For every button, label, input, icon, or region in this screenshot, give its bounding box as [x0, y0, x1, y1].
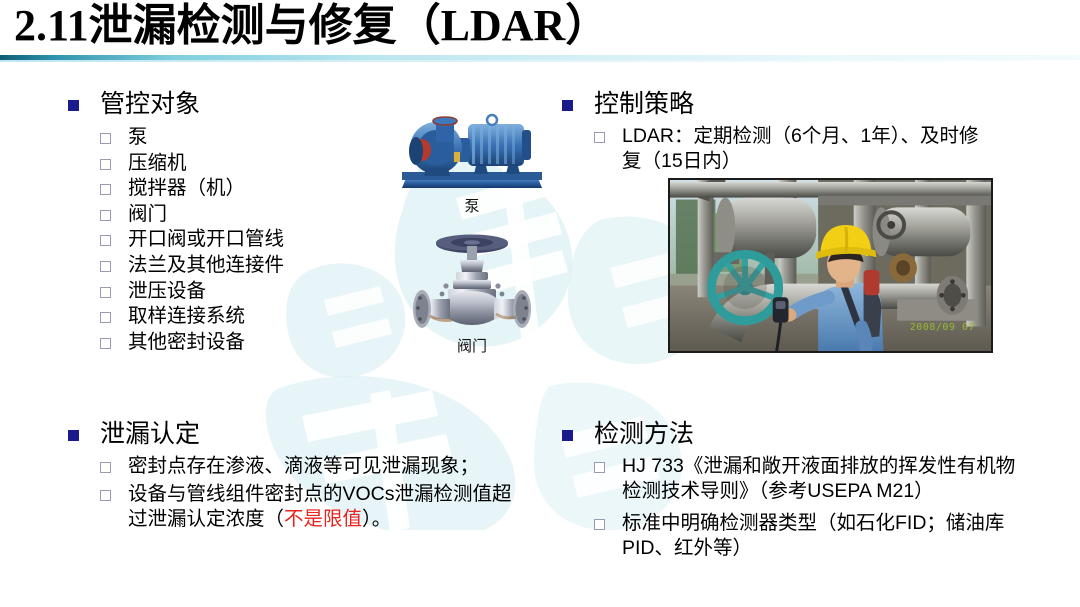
- list-item-label: 压缩机: [128, 151, 187, 177]
- section-leak-definition: 泄漏认定 密封点存在渗液、滴液等可见泄漏现象； 设备与管线组件密封点的VOCs泄…: [68, 418, 538, 535]
- section-heading-row: 泄漏认定: [68, 418, 538, 450]
- list-item-label: 泄压设备: [128, 279, 206, 305]
- title-divider-secondary: [0, 60, 1080, 62]
- photo-worker-inspection: 2008/09 07: [668, 178, 993, 353]
- section-heading: 检测方法: [594, 418, 694, 450]
- hollow-square-bullet-icon: [594, 132, 605, 143]
- list-item: 取样连接系统: [100, 304, 428, 330]
- hollow-square-bullet-icon: [100, 133, 111, 144]
- list-item: LDAR：定期检测（6个月、1年）、及时修复（15日内）: [594, 124, 1032, 174]
- list-item-label: 开口阀或开口管线: [128, 227, 284, 253]
- hollow-square-bullet-icon: [594, 519, 605, 530]
- list-item-label-rich: 设备与管线组件密封点的VOCs泄漏检测值超过泄漏认定浓度（不是限值）。: [128, 482, 528, 532]
- hollow-square-bullet-icon: [100, 490, 111, 501]
- section-heading-row: 检测方法: [562, 418, 1042, 450]
- list-item: 密封点存在渗液、滴液等可见泄漏现象；: [100, 454, 538, 479]
- section-heading: 管控对象: [100, 88, 200, 120]
- list-item: 阀门: [100, 202, 428, 228]
- list-item-label: LDAR：定期检测（6个月、1年）、及时修复（15日内）: [622, 124, 982, 174]
- section-control-strategy: 控制策略 LDAR：定期检测（6个月、1年）、及时修复（15日内）: [562, 88, 1032, 175]
- square-bullet-icon: [562, 100, 573, 111]
- slide-root: 2.11泄漏检测与修复（LDAR） 管控对象 泵 压缩机 搅拌器（机）: [0, 0, 1080, 607]
- list-item-label: 其他密封设备: [128, 330, 245, 356]
- list-item-label: 密封点存在渗液、滴液等可见泄漏现象；: [128, 454, 528, 479]
- list-item: 压缩机: [100, 151, 428, 177]
- hollow-square-bullet-icon: [100, 312, 111, 323]
- hollow-square-bullet-icon: [100, 235, 111, 246]
- bullet-list: 泵 压缩机 搅拌器（机） 阀门 开口阀或开口管线 法兰及其他连接件: [100, 125, 428, 355]
- list-item: 泵: [100, 125, 428, 151]
- hollow-square-bullet-icon: [100, 462, 111, 473]
- photo-timestamp: 2008/09 07: [910, 322, 975, 333]
- bullet-list: 密封点存在渗液、滴液等可见泄漏现象； 设备与管线组件密封点的VOCs泄漏检测值超…: [100, 454, 538, 532]
- slide-title-bar: 2.11泄漏检测与修复（LDAR）: [0, 0, 1080, 58]
- hollow-square-bullet-icon: [594, 462, 605, 473]
- hollow-square-bullet-icon: [100, 338, 111, 349]
- hollow-square-bullet-icon: [100, 287, 111, 298]
- list-item-label: 标准中明确检测器类型（如石化FID；储油库PID、红外等）: [622, 511, 1017, 561]
- list-item-label: 阀门: [128, 202, 167, 228]
- hollow-square-bullet-icon: [100, 184, 111, 195]
- list-item-label: 取样连接系统: [128, 304, 245, 330]
- list-item-label: 法兰及其他连接件: [128, 253, 284, 279]
- section-heading: 泄漏认定: [100, 418, 200, 450]
- page-title: 2.11泄漏检测与修复（LDAR）: [14, 0, 609, 54]
- hollow-square-bullet-icon: [100, 210, 111, 221]
- bullet-list: HJ 733《泄漏和敞开液面排放的挥发性有机物检测技术导则》（参考USEPA M…: [594, 454, 1042, 561]
- list-item: 其他密封设备: [100, 330, 428, 356]
- section-heading-row: 控制策略: [562, 88, 1032, 120]
- list-item-label: 泵: [128, 125, 148, 151]
- highlight-text: 不是限值: [284, 508, 362, 530]
- list-item: 开口阀或开口管线: [100, 227, 428, 253]
- list-item: 泄压设备: [100, 279, 428, 305]
- hollow-square-bullet-icon: [100, 261, 111, 272]
- list-item: 标准中明确检测器类型（如石化FID；储油库PID、红外等）: [594, 511, 1042, 561]
- square-bullet-icon: [68, 430, 79, 441]
- list-item: HJ 733《泄漏和敞开液面排放的挥发性有机物检测技术导则》（参考USEPA M…: [594, 454, 1042, 504]
- text-after-highlight: ）。: [362, 508, 391, 530]
- section-heading-row: 管控对象: [68, 88, 428, 120]
- section-control-objects: 管控对象 泵 压缩机 搅拌器（机） 阀门 开口阀或开口管线: [68, 88, 428, 355]
- list-item-label: HJ 733《泄漏和敞开液面排放的挥发性有机物检测技术导则》（参考USEPA M…: [622, 454, 1017, 504]
- list-item: 搅拌器（机）: [100, 176, 428, 202]
- list-item: 设备与管线组件密封点的VOCs泄漏检测值超过泄漏认定浓度（不是限值）。: [100, 482, 538, 532]
- section-detection-method: 检测方法 HJ 733《泄漏和敞开液面排放的挥发性有机物检测技术导则》（参考US…: [562, 418, 1042, 568]
- list-item: 法兰及其他连接件: [100, 253, 428, 279]
- list-item-label: 搅拌器（机）: [128, 176, 245, 202]
- section-heading: 控制策略: [594, 88, 694, 120]
- square-bullet-icon: [68, 100, 79, 111]
- hollow-square-bullet-icon: [100, 159, 111, 170]
- square-bullet-icon: [562, 430, 573, 441]
- bullet-list: LDAR：定期检测（6个月、1年）、及时修复（15日内）: [594, 124, 1032, 174]
